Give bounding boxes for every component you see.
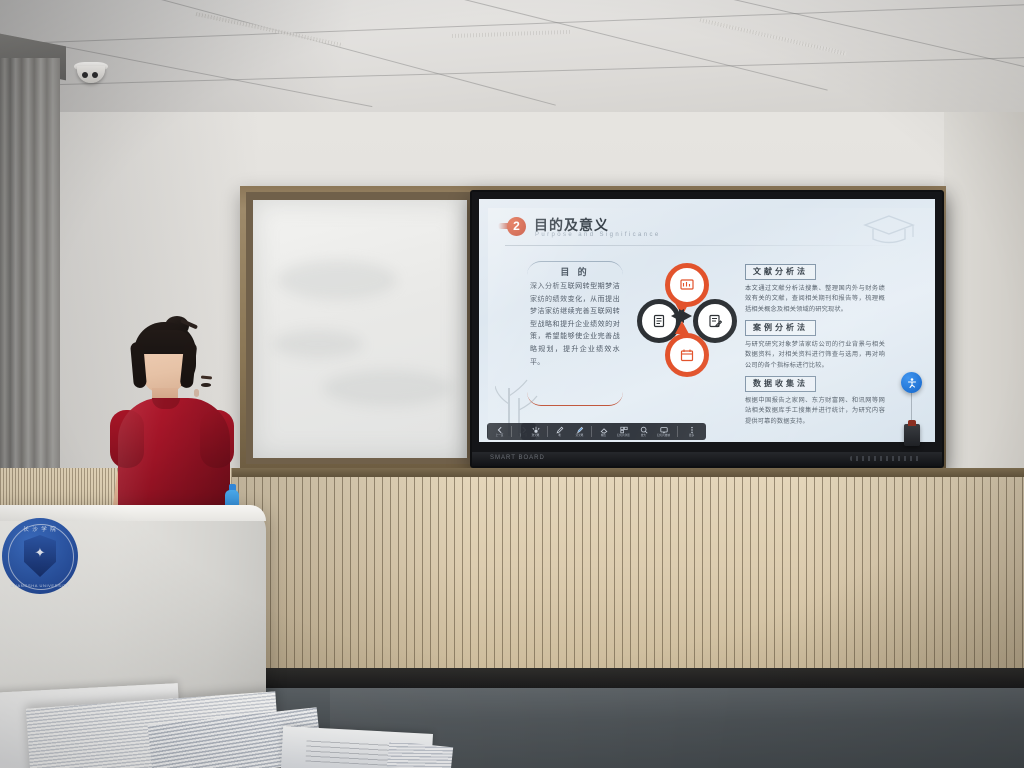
diagram-node-bottom <box>665 333 709 377</box>
highlighter-icon <box>576 426 584 434</box>
projector-button[interactable]: 幻灯片放映 <box>655 424 672 439</box>
method-body: 根据中国报告之家网、东方财富网、和讯网等网站相关数据库手工搜集并进行统计，为研究… <box>745 396 885 428</box>
more-button[interactable]: 更多 <box>683 424 700 439</box>
wireless-presenter-dock[interactable] <box>904 424 920 446</box>
prev-slide-button[interactable]: 上一页 <box>491 424 508 439</box>
laser-pointer-button[interactable]: 激光笔 <box>527 424 544 439</box>
prev-slide-icon <box>496 426 504 434</box>
title-divider <box>505 245 909 246</box>
crest-star-icon: ✦ <box>35 545 46 561</box>
projector-icon <box>660 426 668 434</box>
method-block-1: 案例分析法 与研究研究对象梦洁家纺公司的行业背景与相关数据资料，对相关资料进行筛… <box>745 317 885 371</box>
method-body: 本文通过文献分析法搜集、整理国内外与财务绩效有关的文献，查阅相关期刊和报告等，梳… <box>745 284 885 316</box>
slide-grid-label: 幻灯片浏览 <box>617 434 630 437</box>
pen-button[interactable]: 笔 <box>551 424 568 439</box>
method-heading: 数据收集法 <box>745 376 816 392</box>
calendar-icon <box>680 348 694 362</box>
ceiling <box>0 0 1024 118</box>
chart-icon <box>680 278 694 292</box>
accessibility-icon <box>906 377 917 388</box>
zoom-in-label: 放大 <box>641 434 646 437</box>
more-label: 更多 <box>689 434 694 437</box>
method-block-2: 数据收集法 根据中国报告之家网、东方财富网、和讯网等网站相关数据库手工搜集并进行… <box>745 373 885 427</box>
eraser-label: 橡皮 <box>601 434 606 437</box>
slide-subtitle: Purpose and Significance <box>535 232 661 238</box>
display-brand-label: SMART BOARD <box>490 455 545 461</box>
nose <box>194 389 199 397</box>
ppt-tools-toolbar[interactable]: 激光笔 笔 荧光笔 <box>521 423 706 440</box>
purpose-card: 目 的 深入分析互联网转型期梦洁家纺的绩效变化，从而提出梦洁家纺继续完善互联网转… <box>527 261 623 406</box>
zoom-in-button[interactable]: 放大 <box>635 424 652 439</box>
slide-grid-icon <box>620 426 628 434</box>
method-block-0: 文献分析法 本文通过文献分析法搜集、整理国内外与财务绩效有关的文献，查阅相关期刊… <box>745 261 885 315</box>
laser-pointer-icon <box>532 426 540 434</box>
projector-label: 幻灯片放映 <box>657 434 670 437</box>
slide-grid-button[interactable]: 幻灯片浏览 <box>615 424 632 439</box>
pen-label: 笔 <box>558 434 561 437</box>
method-diagram <box>637 263 727 367</box>
eraser-icon <box>600 426 608 434</box>
crest-bottom-text: CHANGSHA UNIVERSITY <box>2 583 78 588</box>
slide-number-badge: 2 <box>507 217 526 236</box>
document-icon <box>652 314 666 328</box>
presentation-slide: 2 目的及意义 Purpose and Significance 目 的 <box>479 199 935 442</box>
edit-document-icon <box>708 314 722 328</box>
method-body: 与研究研究对象梦洁家纺公司的行业背景与相关数据资料，对相关资料进行筛查与选用，再… <box>745 340 885 372</box>
whiteboard-left[interactable] <box>253 200 467 458</box>
display-speaker-grille <box>850 456 920 461</box>
laser-pointer-label: 激光笔 <box>532 434 540 437</box>
classroom-scene: 练习 2 目的及意义 Purpose and Significance <box>0 0 1024 768</box>
smart-display[interactable]: 2 目的及意义 Purpose and Significance 目 的 <box>470 190 944 468</box>
highlighter-button[interactable]: 荧光笔 <box>571 424 588 439</box>
more-icon <box>688 426 696 434</box>
university-crest: 长 沙 学 院 ✦ CHANGSHA UNIVERSITY <box>2 518 78 594</box>
window-curtain[interactable] <box>0 58 60 518</box>
method-heading: 案例分析法 <box>745 320 816 336</box>
ceiling-dome-camera <box>74 62 108 82</box>
accessibility-assist-button[interactable] <box>901 372 922 393</box>
wainscot-shading <box>230 477 1024 673</box>
pen-icon <box>556 426 564 434</box>
purpose-card-body: 深入分析互联网转型期梦洁家纺的绩效变化，从而提出梦洁家纺继续完善互联网转型战略和… <box>530 281 620 369</box>
highlighter-label: 荧光笔 <box>576 434 584 437</box>
diagram-node-top <box>665 263 709 307</box>
method-heading: 文献分析法 <box>745 264 816 280</box>
graduation-cap-icon <box>863 213 915 247</box>
crest-top-text: 长 沙 学 院 <box>2 525 78 533</box>
display-screen[interactable]: 2 目的及意义 Purpose and Significance 目 的 <box>479 199 935 442</box>
eye-right <box>201 383 211 387</box>
eraser-button[interactable]: 橡皮 <box>595 424 612 439</box>
purpose-card-heading: 目 的 <box>527 265 623 278</box>
prev-slide-label: 上一页 <box>496 434 504 437</box>
zoom-in-icon <box>640 426 648 434</box>
